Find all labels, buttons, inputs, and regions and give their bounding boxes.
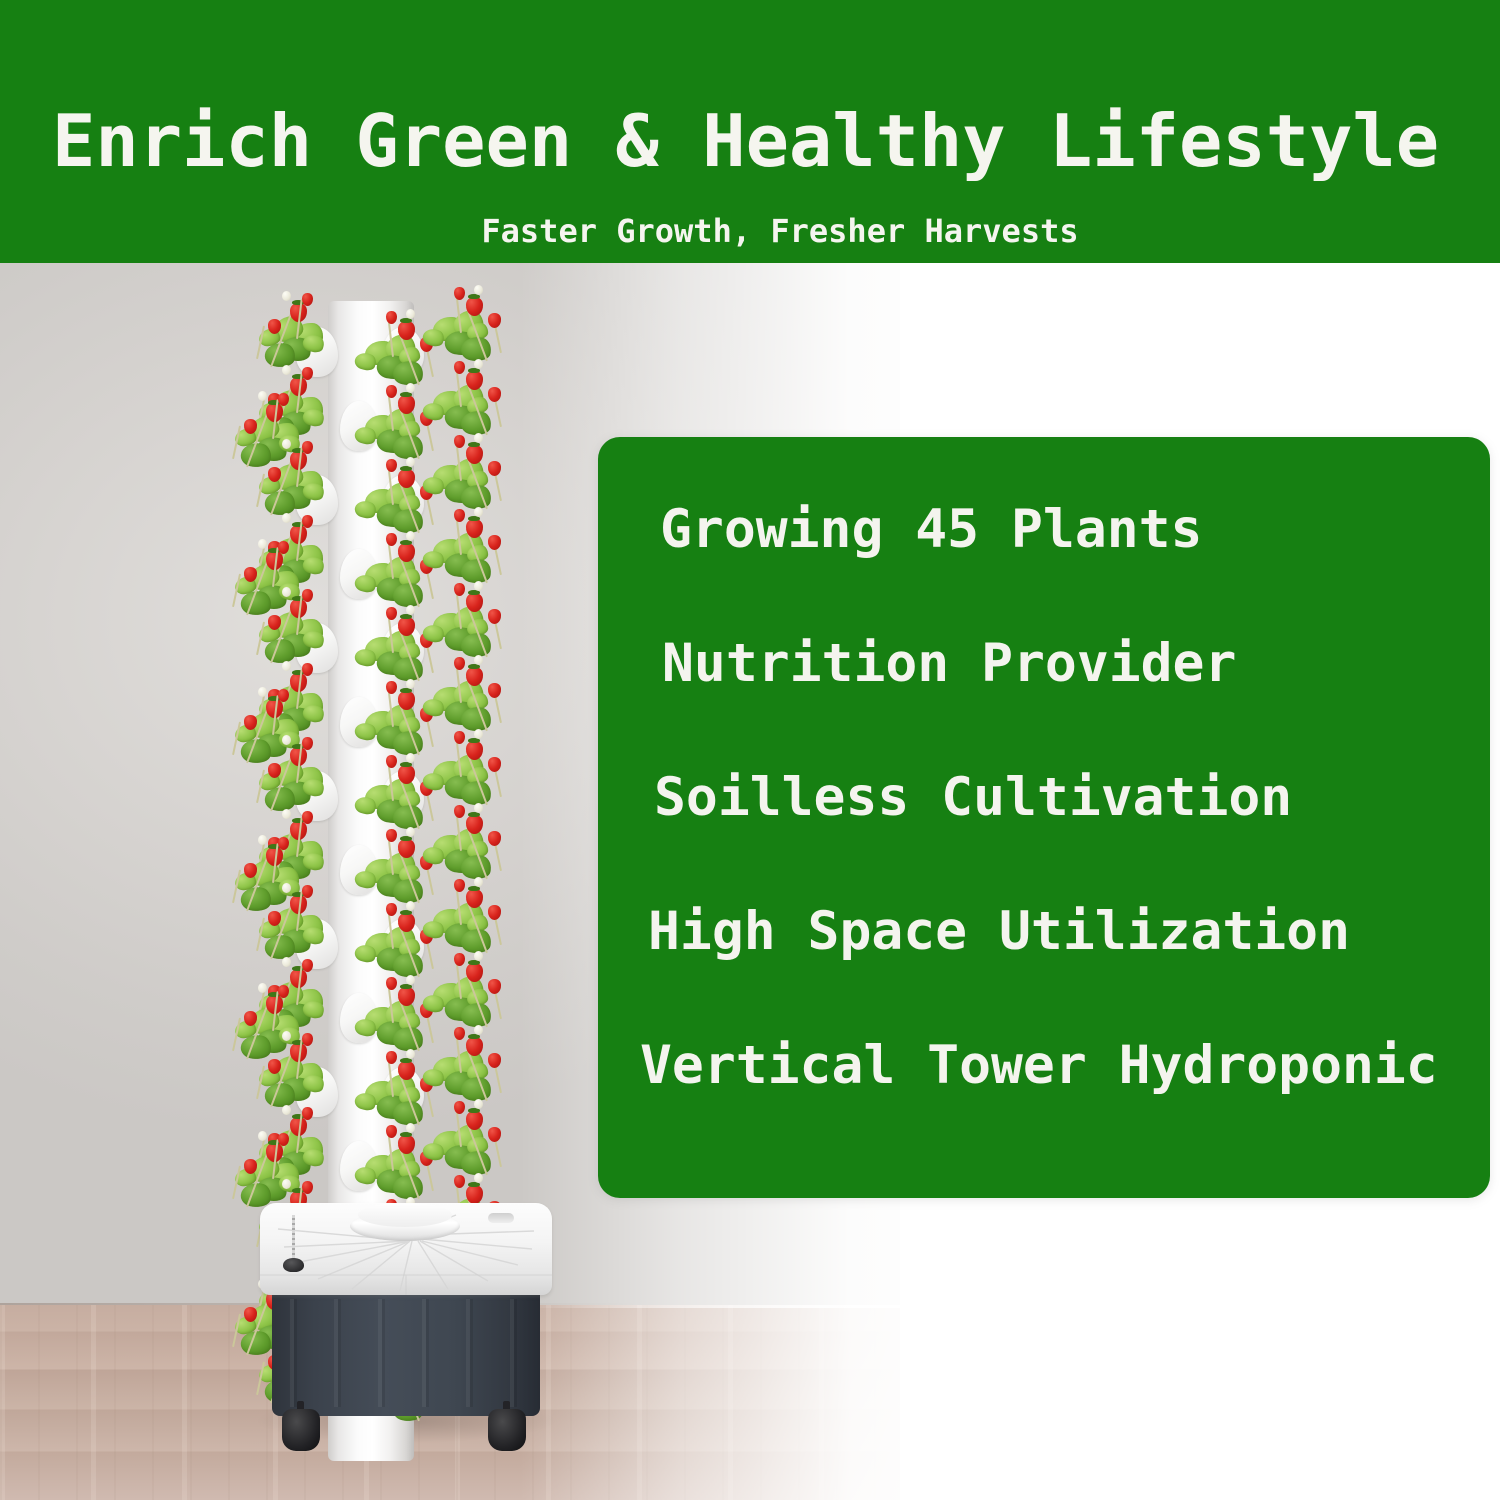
strawberry-fruit: [454, 1101, 465, 1114]
strawberry-bud: [282, 809, 291, 819]
strawberry-bud: [474, 951, 483, 961]
lid-collar-inner: [358, 1203, 452, 1227]
strawberry-bud: [282, 291, 291, 301]
strawberry-fruit: [466, 593, 483, 612]
strawberry-bud: [258, 983, 267, 993]
strawberry-fruit: [454, 879, 465, 892]
strawberry-fruit: [244, 715, 257, 730]
strawberry-fruit: [302, 589, 313, 602]
strawberry-bud: [406, 531, 415, 541]
strawberry-fruit: [488, 313, 501, 328]
feature-item-space-utilization: High Space Utilization: [620, 901, 1472, 1035]
strawberry-bud: [282, 439, 291, 449]
strawberry-fruit: [466, 815, 483, 834]
strawberry-fruit: [386, 681, 397, 694]
strawberry-bud: [258, 391, 267, 401]
lid-handle-notch: [488, 1213, 514, 1223]
strawberry-bud: [406, 679, 415, 689]
strawberry-fruit: [268, 319, 281, 334]
strawberry-fruit: [488, 535, 501, 550]
strawberry-bud: [282, 661, 291, 671]
strawberry-bud: [406, 975, 415, 985]
strawberry-bud: [282, 957, 291, 967]
strawberry-bud: [406, 457, 415, 467]
strawberry-fruit: [302, 515, 313, 528]
strawberry-fruit: [488, 979, 501, 994]
strawberry-fruit: [268, 467, 281, 482]
strawberry-bud: [282, 587, 291, 597]
strawberry-fruit: [466, 519, 483, 538]
strawberry-fruit: [302, 885, 313, 898]
strawberry-bud: [406, 1123, 415, 1133]
strawberry-fruit: [466, 445, 483, 464]
strawberry-fruit: [466, 297, 483, 316]
strawberry-bud: [474, 1173, 483, 1183]
strawberry-fruit: [386, 755, 397, 768]
page-subtitle: Faster Growth, Fresher Harvests: [0, 211, 1500, 251]
strawberry-fruit: [466, 1185, 483, 1204]
strawberry-bud: [406, 901, 415, 911]
drain-plug-chain: [292, 1215, 295, 1261]
strawberry-fruit: [268, 763, 281, 778]
strawberry-fruit: [454, 805, 465, 818]
strawberry-fruit: [488, 905, 501, 920]
strawberry-fruit: [386, 385, 397, 398]
strawberry-fruit: [454, 509, 465, 522]
strawberry-bud: [406, 753, 415, 763]
feature-list: Growing 45 Plants Nutrition Provider Soi…: [598, 437, 1490, 1198]
strawberry-fruit: [302, 1181, 313, 1194]
strawberry-bud: [282, 1031, 291, 1041]
strawberry-bud: [474, 803, 483, 813]
strawberry-bud: [258, 687, 267, 697]
strawberry-fruit: [466, 667, 483, 686]
strawberry-bud: [282, 735, 291, 745]
strawberry-fruit: [454, 1027, 465, 1040]
strawberry-fruit: [466, 741, 483, 760]
strawberry-fruit: [488, 387, 501, 402]
strawberry-bud: [282, 513, 291, 523]
reservoir-tank-ribs: [272, 1299, 540, 1407]
strawberry-fruit: [302, 441, 313, 454]
strawberry-fruit: [466, 1037, 483, 1056]
feature-item-nutrition-provider: Nutrition Provider: [620, 633, 1472, 767]
strawberry-fruit: [386, 1125, 397, 1138]
strawberry-fruit: [386, 977, 397, 990]
strawberry-fruit: [386, 311, 397, 324]
strawberry-fruit: [244, 1159, 257, 1174]
strawberry-fruit: [488, 1053, 501, 1068]
strawberry-bud: [258, 1131, 267, 1141]
strawberry-bud: [474, 1099, 483, 1109]
strawberry-bud: [474, 433, 483, 443]
strawberry-fruit: [466, 889, 483, 908]
strawberry-bud: [282, 365, 291, 375]
strawberry-fruit: [466, 963, 483, 982]
strawberry-bud: [474, 655, 483, 665]
strawberry-bud: [474, 507, 483, 517]
strawberry-bud: [474, 581, 483, 591]
strawberry-bud: [258, 539, 267, 549]
strawberry-fruit: [454, 657, 465, 670]
strawberry-fruit: [454, 583, 465, 596]
strawberry-fruit: [386, 829, 397, 842]
strawberry-fruit: [268, 615, 281, 630]
strawberry-bud: [474, 877, 483, 887]
strawberry-fruit: [386, 1051, 397, 1064]
strawberry-fruit: [386, 533, 397, 546]
strawberry-fruit: [488, 609, 501, 624]
strawberry-fruit: [302, 959, 313, 972]
strawberry-fruit: [244, 1307, 257, 1322]
strawberry-fruit: [454, 953, 465, 966]
strawberry-fruit: [454, 361, 465, 374]
strawberry-bud: [282, 1105, 291, 1115]
strawberry-fruit: [302, 811, 313, 824]
strawberry-fruit: [302, 1033, 313, 1046]
strawberry-fruit: [488, 757, 501, 772]
strawberry-bud: [406, 605, 415, 615]
header-banner: Enrich Green & Healthy Lifestyle Faster …: [0, 0, 1500, 263]
strawberry-bud: [406, 827, 415, 837]
strawberry-fruit: [302, 663, 313, 676]
strawberry-fruit: [268, 911, 281, 926]
strawberry-fruit: [454, 287, 465, 300]
strawberry-fruit: [488, 1127, 501, 1142]
strawberry-bud: [474, 729, 483, 739]
strawberry-fruit: [302, 737, 313, 750]
strawberry-fruit: [244, 567, 257, 582]
strawberry-bud: [258, 835, 267, 845]
strawberry-fruit: [454, 731, 465, 744]
strawberry-bud: [406, 309, 415, 319]
strawberry-fruit: [466, 371, 483, 390]
strawberry-fruit: [268, 1059, 281, 1074]
strawberry-bud: [406, 1049, 415, 1059]
feature-item-growing-plants: Growing 45 Plants: [620, 499, 1472, 633]
strawberry-fruit: [386, 903, 397, 916]
strawberry-fruit: [488, 683, 501, 698]
strawberry-fruit: [454, 1175, 465, 1188]
strawberry-fruit: [488, 461, 501, 476]
strawberry-bud: [282, 1179, 291, 1189]
hydroponic-tower-assembly: [250, 273, 570, 1493]
strawberry-bud: [406, 383, 415, 393]
strawberry-fruit: [302, 1107, 313, 1120]
strawberry-bud: [474, 359, 483, 369]
strawberry-fruit: [488, 831, 501, 846]
strawberry-bud: [282, 883, 291, 893]
strawberry-fruit: [386, 607, 397, 620]
strawberry-bud: [474, 1025, 483, 1035]
strawberry-fruit: [244, 863, 257, 878]
strawberry-fruit: [466, 1111, 483, 1130]
page-title: Enrich Green & Healthy Lifestyle: [52, 101, 1439, 181]
strawberry-fruit: [302, 293, 313, 306]
strawberry-fruit: [386, 459, 397, 472]
strawberry-bud: [474, 285, 483, 295]
floor-white-fade: [520, 1305, 980, 1500]
strawberry-fruit: [302, 367, 313, 380]
feature-item-soilless-cultivation: Soilless Cultivation: [620, 767, 1472, 901]
feature-item-vertical-tower: Vertical Tower Hydroponic: [620, 1035, 1472, 1097]
strawberry-fruit: [244, 1011, 257, 1026]
drain-plug: [283, 1258, 304, 1272]
caster-wheel: [488, 1409, 526, 1451]
product-marketing-poster: Enrich Green & Healthy Lifestyle Faster …: [0, 0, 1500, 1500]
caster-wheel: [282, 1409, 320, 1451]
strawberry-fruit: [244, 419, 257, 434]
strawberry-fruit: [454, 435, 465, 448]
